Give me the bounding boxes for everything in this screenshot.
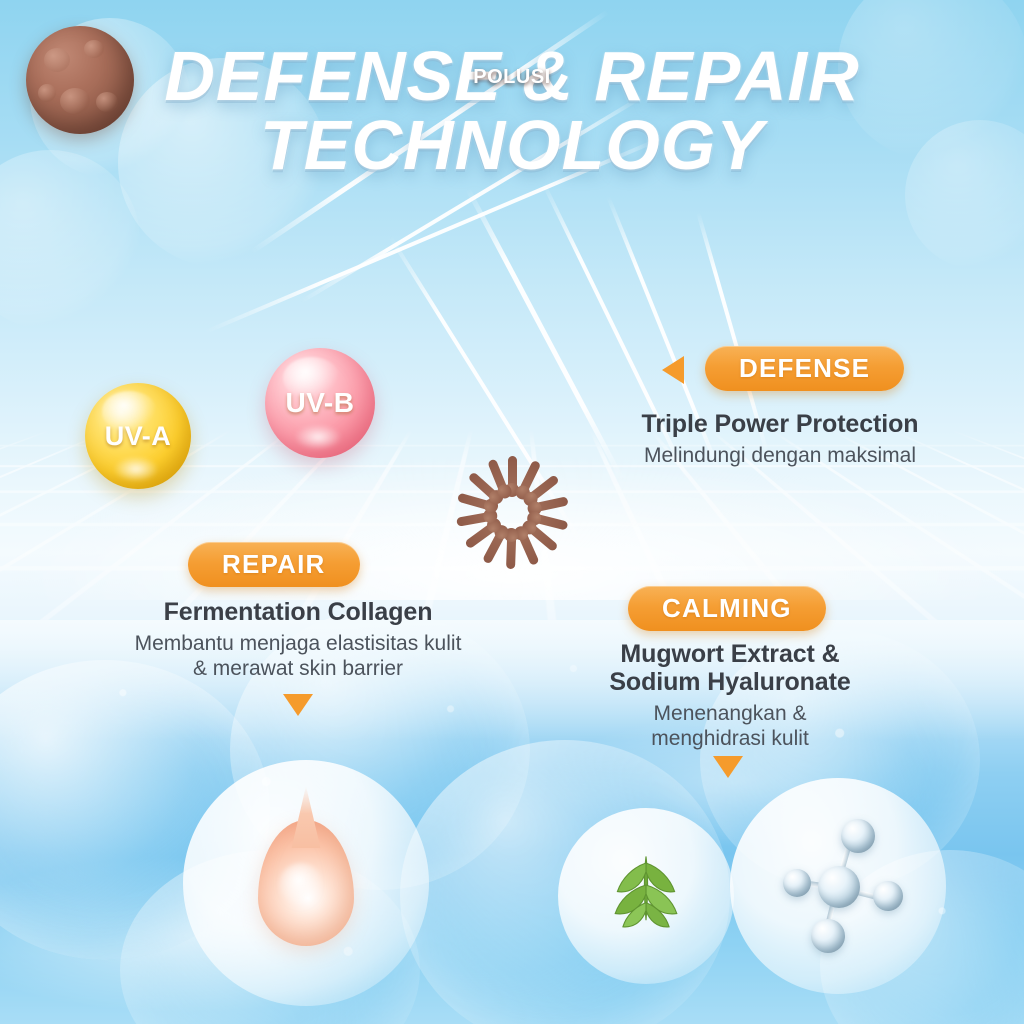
mugwort-bubble	[558, 808, 734, 984]
defense-heading: Triple Power Protection	[588, 410, 972, 438]
repair-subtitle-line-2: & merawat skin barrier	[78, 656, 518, 681]
polusi-label: POLUSI	[0, 66, 1024, 89]
repair-subtitle-line-1: Membantu menjaga elastisitas kulit	[78, 631, 518, 656]
uv-b-sphere: UV-B	[265, 348, 375, 458]
defense-text-block: Triple Power Protection Melindungi denga…	[588, 410, 972, 468]
calming-text-block: Mugwort Extract & Sodium Hyaluronate Men…	[570, 640, 890, 751]
repair-text-block: Fermentation Collagen Membantu menjaga e…	[78, 598, 518, 681]
droplet-icon	[258, 820, 354, 946]
repair-down-arrow-icon	[283, 694, 313, 716]
hyaluronate-bubble	[730, 778, 946, 994]
sphere-underglow	[294, 424, 342, 450]
page-title: DEFENSE & REPAIR TECHNOLOGY	[0, 42, 1024, 179]
defense-subtitle: Melindungi dengan maksimal	[588, 443, 972, 468]
repair-badge: REPAIR	[188, 542, 360, 587]
leaf-icon	[591, 841, 701, 951]
calming-heading-line-1: Mugwort Extract &	[570, 640, 890, 668]
defense-badge: DEFENSE	[705, 346, 904, 391]
poster-canvas: DEFENSE & REPAIR TECHNOLOGY UV-A UV-B	[0, 0, 1024, 1024]
uv-b-label: UV-B	[286, 387, 355, 419]
uv-a-label: UV-A	[105, 421, 172, 452]
molecule-icon	[763, 811, 913, 961]
calming-down-arrow-icon	[713, 756, 743, 778]
calming-subtitle-line-2: menghidrasi kulit	[570, 726, 890, 751]
uv-a-sphere: UV-A	[85, 383, 191, 489]
title-line-2: TECHNOLOGY	[0, 111, 1024, 180]
calming-subtitle-line-1: Menenangkan &	[570, 701, 890, 726]
repair-heading: Fermentation Collagen	[78, 598, 518, 626]
calming-heading-line-2: Sodium Hyaluronate	[570, 668, 890, 696]
droplet-highlight	[279, 863, 323, 906]
sphere-underglow	[113, 456, 160, 481]
collagen-bubble	[183, 760, 429, 1006]
defense-left-arrow-icon	[662, 356, 684, 384]
calming-badge: CALMING	[628, 586, 826, 631]
